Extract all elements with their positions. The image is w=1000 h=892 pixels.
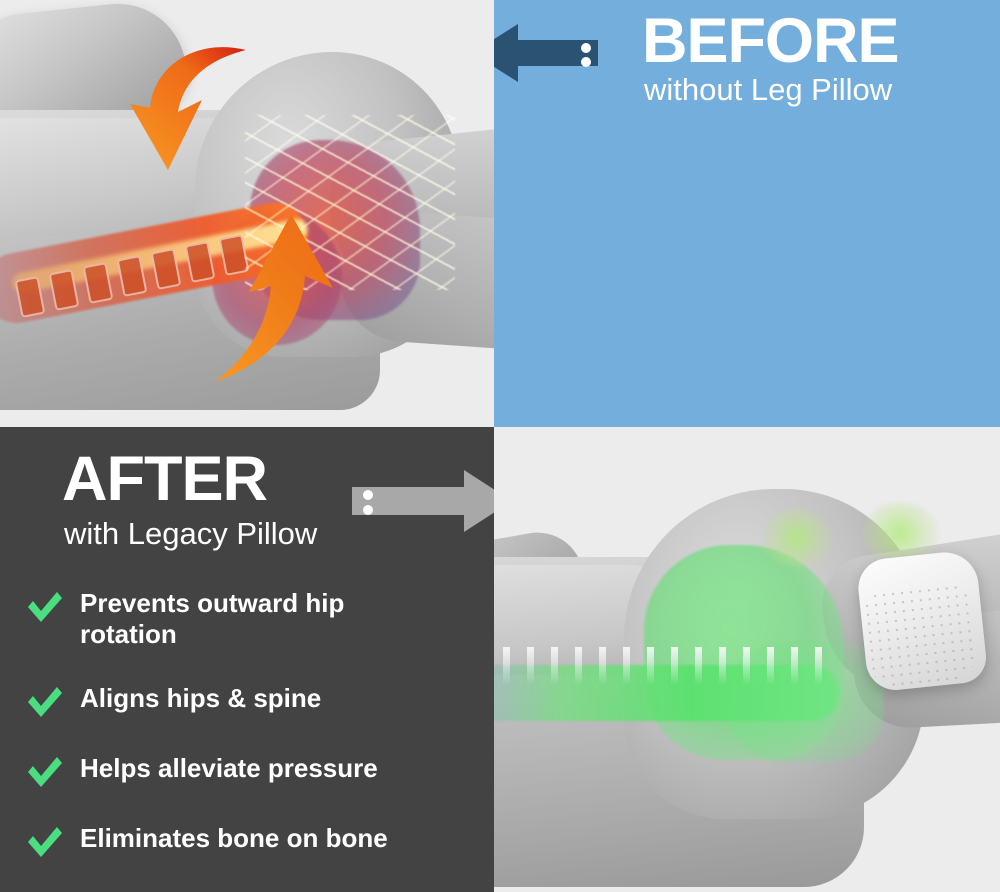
list-item-label: Helps alleviate pressure [80, 753, 378, 784]
list-item-label: Prevents outward hip rotation [80, 588, 430, 649]
list-item: Eliminates bone on bone [26, 823, 476, 859]
after-anatomy-illustration [494, 427, 1000, 892]
after-bullet-list: Prevents outward hip rotation Aligns hip… [26, 588, 476, 892]
leg-pillow-texture [861, 582, 978, 689]
list-item-label: Eliminates bone on bone [80, 823, 388, 854]
list-item: Helps alleviate pressure [26, 753, 476, 789]
check-mark-icon [26, 825, 64, 859]
list-item-label: Aligns hips & spine [80, 683, 321, 714]
rotation-arrow-down-icon [128, 42, 258, 192]
before-after-infographic: BEFORE without Leg Pillow Joint Rotation… [0, 0, 1000, 892]
comfort-glow-spot [762, 509, 832, 567]
arrow-right-icon [352, 468, 512, 534]
before-illustration-panel [0, 0, 494, 427]
before-title: BEFORE [642, 10, 899, 73]
rotation-arrow-up-icon [205, 210, 345, 385]
before-anatomy-illustration [0, 0, 494, 427]
before-text-panel: BEFORE without Leg Pillow Joint Rotation… [494, 0, 1000, 427]
after-subtitle: with Legacy Pillow [64, 516, 317, 552]
arrow-left-icon [494, 22, 620, 84]
vertebra-processes [494, 647, 839, 687]
after-title: AFTER [62, 448, 267, 511]
check-mark-icon [26, 685, 64, 719]
after-illustration-panel [494, 427, 1000, 892]
list-item: Aligns hips & spine [26, 683, 476, 719]
check-mark-icon [26, 755, 64, 789]
list-item: Prevents outward hip rotation [26, 588, 476, 649]
before-subtitle: without Leg Pillow [644, 72, 892, 108]
check-mark-icon [26, 590, 64, 624]
